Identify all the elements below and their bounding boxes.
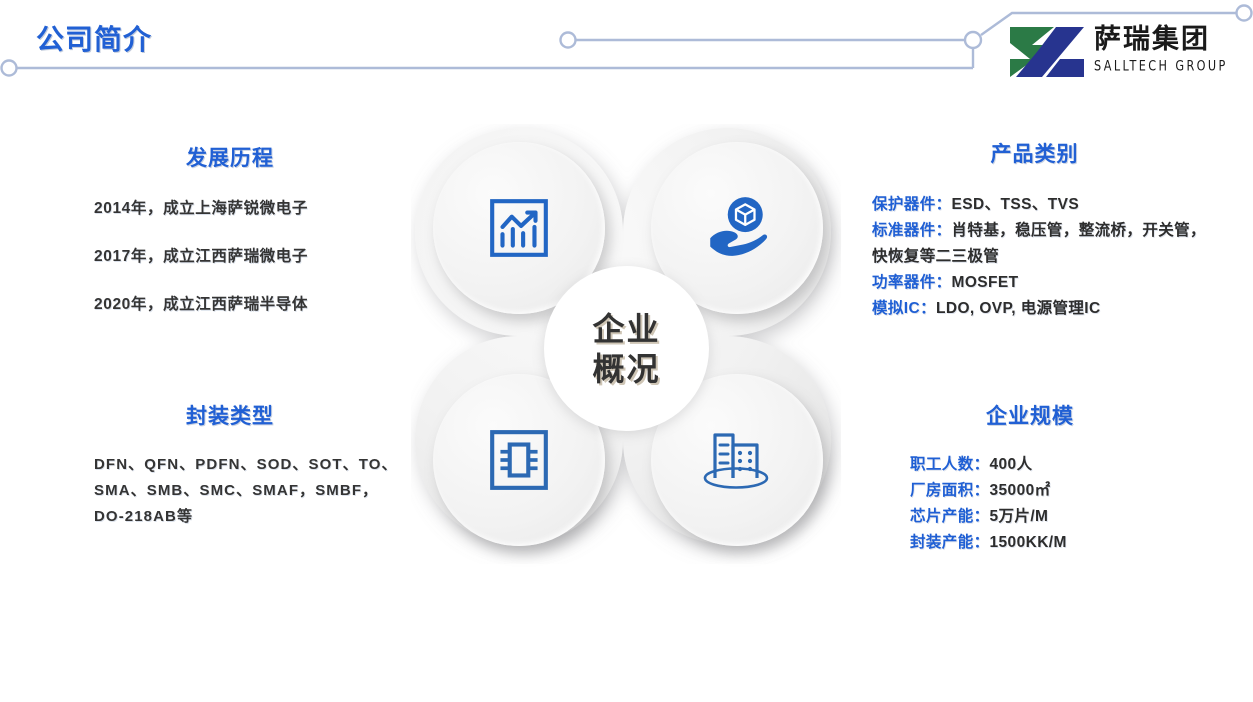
scale-row: 厂房面积：35000㎡ xyxy=(910,478,1180,504)
scale-row: 芯片产能：5万片/M xyxy=(910,504,1180,530)
block-title-history: 发展历程 xyxy=(60,142,400,172)
company-logo: 萨瑞集团 SALLTECH GROUP xyxy=(1008,22,1244,82)
ic-chip-icon xyxy=(486,427,552,493)
product-row-key: 功率器件： xyxy=(872,274,952,291)
scale-row-key: 芯片产能： xyxy=(910,508,990,525)
logo-name-cn: 萨瑞集团 xyxy=(1094,24,1244,56)
block-package-types: 封装类型 DFN、QFN、PDFN、SOD、SOT、TO、SMA、SMB、SMC… xyxy=(60,400,400,530)
logo-name-en: SALLTECH GROUP xyxy=(1094,57,1244,75)
history-line: 2017年，成立江西萨瑞微电子 xyxy=(94,244,400,266)
scale-row-key: 厂房面积： xyxy=(910,482,990,499)
history-line: 2014年，成立上海萨锐微电子 xyxy=(94,196,400,218)
center-circle: 企业 概况 xyxy=(544,266,709,431)
product-rows: 保护器件：ESD、TSS、TVS 标准器件：肖特基，稳压管，整流桥，开关管，快恢… xyxy=(862,192,1207,322)
slide-header: 公司简介 萨瑞集团 xyxy=(0,0,1253,95)
package-type-list: DFN、QFN、PDFN、SOD、SOT、TO、SMA、SMB、SMC、SMAF… xyxy=(94,452,400,530)
deco-circle-right xyxy=(1237,6,1252,21)
history-lines: 2014年，成立上海萨锐微电子 2017年，成立江西萨瑞微电子 2020年，成立… xyxy=(60,196,400,314)
scale-row: 职工人数：400人 xyxy=(910,452,1180,478)
scale-row-key: 职工人数： xyxy=(910,456,990,473)
package-body: DFN、QFN、PDFN、SOD、SOT、TO、SMA、SMB、SMC、SMAF… xyxy=(60,452,400,530)
product-row-key: 模拟IC： xyxy=(872,300,936,317)
product-row: 功率器件：MOSFET xyxy=(872,270,1207,296)
history-line: 2020年，成立江西萨瑞半导体 xyxy=(94,292,400,314)
block-development-history: 发展历程 2014年，成立上海萨锐微电子 2017年，成立江西萨瑞微电子 202… xyxy=(60,142,400,314)
product-row-key: 标准器件： xyxy=(872,222,952,239)
deco-circle-junction xyxy=(965,32,981,48)
logo-text: 萨瑞集团 SALLTECH GROUP xyxy=(1094,24,1244,73)
growth-chart-icon xyxy=(486,195,552,261)
block-title-products: 产品类别 xyxy=(862,138,1207,168)
block-title-package: 封装类型 xyxy=(60,400,400,430)
block-company-scale: 企业规模 职工人数：400人 厂房面积：35000㎡ 芯片产能：5万片/M 封装… xyxy=(880,400,1180,556)
product-row: 保护器件：ESD、TSS、TVS xyxy=(872,192,1207,218)
deco-circle-middle xyxy=(561,33,576,48)
block-product-categories: 产品类别 保护器件：ESD、TSS、TVS 标准器件：肖特基，稳压管，整流桥，开… xyxy=(862,138,1207,322)
scale-rows: 职工人数：400人 厂房面积：35000㎡ 芯片产能：5万片/M 封装产能：15… xyxy=(880,452,1180,556)
salltech-sz-logo-icon xyxy=(1008,25,1086,79)
scale-row-value: 1500KK/M xyxy=(990,534,1067,551)
product-row-value: LDO, OVP, 电源管理IC xyxy=(936,300,1101,317)
scale-row-key: 封装产能： xyxy=(910,534,990,551)
block-title-scale: 企业规模 xyxy=(880,400,1180,430)
product-row: 模拟IC：LDO, OVP, 电源管理IC xyxy=(872,296,1207,322)
slide-page: 公司简介 萨瑞集团 xyxy=(0,0,1253,702)
deco-circle-left xyxy=(2,61,17,76)
center-label: 企业 概况 xyxy=(592,309,660,389)
office-buildings-icon xyxy=(701,427,773,493)
scale-row-value: 35000㎡ xyxy=(990,482,1051,499)
product-row: 标准器件：肖特基，稳压管，整流桥，开关管，快恢复等二三极管 xyxy=(872,218,1207,270)
hand-holding-box-icon xyxy=(702,195,772,261)
scale-row: 封装产能：1500KK/M xyxy=(910,530,1180,556)
product-row-value: MOSFET xyxy=(952,274,1019,291)
center-clover-graphic: 企业 概况 xyxy=(411,124,841,564)
scale-row-value: 5万片/M xyxy=(990,508,1049,525)
product-row-value: ESD、TSS、TVS xyxy=(952,196,1080,213)
product-row-key: 保护器件： xyxy=(872,196,952,213)
scale-row-value: 400人 xyxy=(990,456,1033,473)
